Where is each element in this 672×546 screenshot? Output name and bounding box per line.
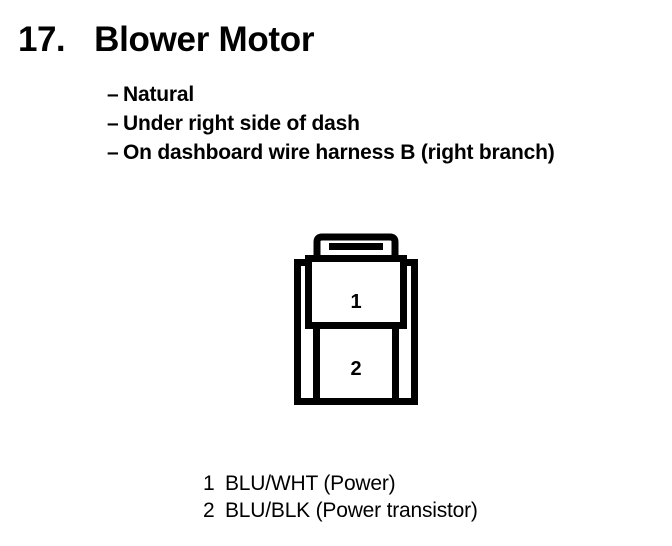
cavity-2: 2 (317, 326, 396, 402)
dash-icon: – (107, 138, 123, 167)
connector-diagram: 1 2 (288, 233, 424, 405)
list-item-label: On dashboard wire harness B (right branc… (123, 141, 555, 164)
list-item: –Natural (107, 80, 647, 109)
list-item-label: Under right side of dash (123, 112, 360, 135)
pin-legend: 1 BLU/WHT (Power) 2 BLU/BLK (Power trans… (203, 470, 478, 524)
component-name: Blower Motor (94, 22, 314, 57)
legend-pin-number: 2 (203, 497, 225, 524)
page-title: 17. Blower Motor (18, 22, 314, 57)
legend-row: 1 BLU/WHT (Power) (203, 470, 478, 497)
cavity-1-label: 1 (350, 291, 361, 313)
cavity-2-label: 2 (350, 358, 361, 380)
legend-pin-number: 1 (203, 470, 225, 497)
dash-icon: – (107, 109, 123, 138)
list-item: –On dashboard wire harness B (right bran… (107, 138, 647, 167)
dash-icon: – (107, 80, 123, 109)
description-list: –Natural –Under right side of dash –On d… (107, 80, 647, 167)
list-item: –Under right side of dash (107, 109, 647, 138)
wiring-connector-page: 17. Blower Motor –Natural –Under right s… (0, 0, 672, 546)
legend-pin-description: BLU/WHT (Power) (225, 470, 395, 497)
item-number: 17. (18, 22, 65, 57)
cavity-1: 1 (309, 259, 404, 326)
legend-pin-description: BLU/BLK (Power transistor) (225, 497, 478, 524)
list-item-label: Natural (123, 83, 194, 106)
legend-row: 2 BLU/BLK (Power transistor) (203, 497, 478, 524)
